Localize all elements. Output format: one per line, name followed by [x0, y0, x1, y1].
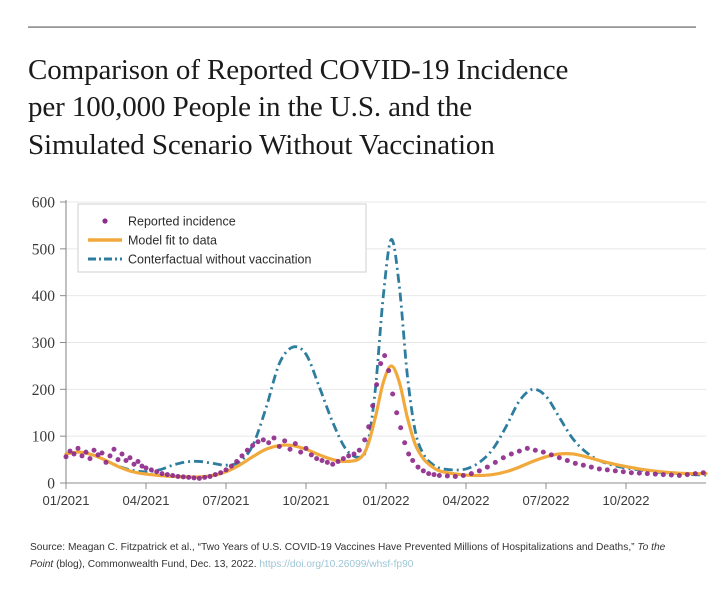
- data-point: [144, 466, 149, 471]
- data-point: [581, 463, 586, 468]
- data-point: [165, 472, 170, 477]
- data-point: [277, 444, 282, 449]
- data-point: [477, 468, 482, 473]
- data-point: [661, 472, 666, 477]
- data-point: [402, 440, 407, 445]
- x-tick-label: 04/2022: [443, 493, 490, 508]
- data-point: [293, 441, 298, 446]
- data-point: [84, 450, 89, 455]
- data-point: [170, 473, 175, 478]
- data-point: [589, 465, 594, 470]
- title-line-1: Comparison of Reported COVID-19 Incidenc…: [28, 52, 688, 89]
- data-point: [565, 458, 570, 463]
- data-point: [88, 456, 93, 461]
- chart-container: 010020030040050060001/202104/202107/2021…: [0, 186, 720, 516]
- data-point: [192, 475, 197, 480]
- y-tick-label: 500: [32, 241, 56, 258]
- data-point: [128, 455, 133, 460]
- data-point: [461, 473, 466, 478]
- data-point: [261, 437, 266, 442]
- data-point: [406, 451, 411, 456]
- legend-label: Model fit to data: [128, 234, 217, 248]
- y-tick-label: 300: [32, 335, 56, 352]
- x-tick-label: 07/2022: [523, 493, 570, 508]
- data-point: [314, 456, 319, 461]
- data-point: [282, 438, 287, 443]
- data-point: [693, 471, 698, 476]
- data-point: [352, 451, 357, 456]
- data-point: [202, 475, 207, 480]
- data-point: [346, 453, 351, 458]
- data-point: [382, 353, 387, 358]
- data-point: [366, 424, 371, 429]
- data-point: [136, 459, 141, 464]
- data-point: [621, 469, 626, 474]
- data-point: [541, 450, 546, 455]
- data-point: [533, 448, 538, 453]
- data-point: [426, 471, 431, 476]
- page-title: Comparison of Reported COVID-19 Incidenc…: [28, 52, 688, 164]
- data-point: [485, 465, 490, 470]
- data-point: [213, 472, 218, 477]
- data-point: [370, 403, 375, 408]
- data-point: [517, 449, 522, 454]
- data-point: [573, 461, 578, 466]
- y-tick-label: 100: [32, 429, 56, 446]
- y-tick-label: 0: [47, 476, 55, 493]
- data-point: [100, 451, 105, 456]
- x-tick-label: 07/2021: [203, 493, 250, 508]
- data-point: [320, 458, 325, 463]
- data-point: [298, 450, 303, 455]
- data-point: [432, 472, 437, 477]
- legend-label: Conterfactual without vaccination: [128, 253, 311, 267]
- data-point: [597, 466, 602, 471]
- data-point: [104, 460, 109, 465]
- data-point: [80, 453, 85, 458]
- y-tick-label: 200: [32, 382, 56, 399]
- chart-legend: Reported incidenceModel fit to dataConte…: [78, 204, 366, 272]
- data-point: [250, 443, 255, 448]
- data-point: [501, 455, 506, 460]
- source-doi-link[interactable]: https://doi.org/10.26099/whsf-fp90: [259, 559, 413, 570]
- data-point: [669, 473, 674, 478]
- data-point: [64, 454, 69, 459]
- x-tick-label: 01/2021: [43, 493, 90, 508]
- data-point: [437, 473, 442, 478]
- data-point: [493, 460, 498, 465]
- legend-marker-dot: [102, 218, 107, 223]
- data-point: [92, 448, 97, 453]
- data-point: [224, 467, 229, 472]
- data-point: [390, 392, 395, 397]
- data-point: [330, 462, 335, 467]
- data-point: [266, 440, 271, 445]
- figure-page: Comparison of Reported COVID-19 Incidenc…: [0, 0, 720, 605]
- data-point: [341, 456, 346, 461]
- data-point: [701, 470, 706, 475]
- data-point: [197, 476, 202, 481]
- data-point: [112, 447, 117, 452]
- data-point: [386, 368, 391, 373]
- data-point: [613, 468, 618, 473]
- data-point: [120, 451, 125, 456]
- data-point: [181, 474, 186, 479]
- data-point: [525, 446, 530, 451]
- series-model-fit: [66, 366, 706, 477]
- data-point: [218, 470, 223, 475]
- x-tick-label: 10/2021: [283, 493, 330, 508]
- title-line-3: Simulated Scenario Without Vaccination: [28, 127, 688, 164]
- legend-label: Reported incidence: [128, 215, 236, 229]
- data-point: [176, 474, 181, 479]
- data-point: [410, 458, 415, 463]
- data-point: [309, 452, 314, 457]
- data-point: [325, 460, 330, 465]
- title-line-2: per 100,000 People in the U.S. and the: [28, 89, 688, 126]
- incidence-line-chart: 010020030040050060001/202104/202107/2021…: [0, 186, 720, 516]
- data-point: [72, 451, 77, 456]
- data-point: [645, 471, 650, 476]
- data-point: [509, 451, 514, 456]
- data-point: [208, 474, 213, 479]
- x-tick-label: 04/2021: [123, 493, 170, 508]
- data-point: [357, 448, 362, 453]
- data-point: [677, 473, 682, 478]
- source-note: Source: Meagan C. Fitzpatrick et al., “T…: [30, 540, 690, 573]
- data-point: [336, 459, 341, 464]
- data-point: [394, 410, 399, 415]
- data-point: [186, 475, 191, 480]
- data-point: [549, 452, 554, 457]
- data-point: [154, 469, 159, 474]
- data-point: [76, 446, 81, 451]
- source-middle: (blog), Commonwealth Fund, Dec. 13, 2022…: [53, 559, 259, 570]
- data-point: [160, 471, 165, 476]
- data-point: [256, 439, 261, 444]
- data-point: [234, 459, 239, 464]
- data-point: [108, 453, 113, 458]
- data-point: [245, 448, 250, 453]
- data-point: [398, 425, 403, 430]
- data-point: [605, 467, 610, 472]
- data-point: [557, 455, 562, 460]
- data-point: [272, 436, 277, 441]
- data-point: [240, 453, 245, 458]
- source-prefix: Source: Meagan C. Fitzpatrick et al., “T…: [30, 542, 637, 553]
- y-tick-label: 400: [32, 288, 56, 305]
- data-point: [374, 382, 379, 387]
- data-point: [362, 437, 367, 442]
- data-point: [304, 446, 309, 451]
- y-tick-label: 600: [32, 195, 56, 212]
- data-point: [469, 471, 474, 476]
- data-point: [229, 464, 234, 469]
- data-point: [149, 467, 154, 472]
- data-point: [653, 472, 658, 477]
- top-divider-rule: [28, 26, 696, 28]
- data-point: [685, 472, 690, 477]
- data-point: [629, 470, 634, 475]
- data-point: [288, 447, 293, 452]
- data-point: [445, 473, 450, 478]
- x-tick-label: 10/2022: [603, 493, 650, 508]
- data-point: [637, 471, 642, 476]
- data-point: [421, 468, 426, 473]
- data-point: [416, 465, 421, 470]
- data-point: [453, 474, 458, 479]
- x-tick-label: 01/2022: [363, 493, 410, 508]
- data-point: [378, 361, 383, 366]
- data-point: [116, 457, 121, 462]
